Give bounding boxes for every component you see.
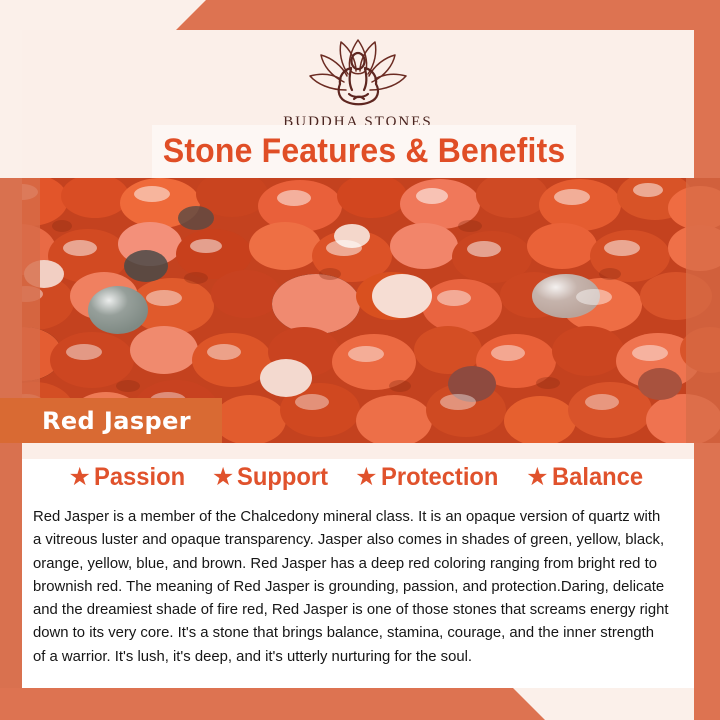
benefit-item-support: ★ Support	[212, 463, 333, 492]
star-icon: ★	[355, 465, 377, 490]
benefit-label: Passion	[94, 463, 185, 492]
benefit-item-balance: ★ Balance	[526, 463, 647, 492]
benefits-list: ★ Passion ★ Support ★ Protection ★ Balan…	[22, 463, 694, 492]
stone-name-badge: Red Jasper	[0, 398, 222, 443]
benefit-item-passion: ★ Passion	[69, 463, 190, 492]
top-accent-bar	[0, 0, 720, 30]
benefit-label: Protection	[381, 463, 498, 492]
star-icon: ★	[526, 465, 548, 490]
stone-description: Red Jasper is a member of the Chalcedony…	[33, 505, 670, 668]
benefit-label: Support	[237, 463, 328, 492]
brand-logo: BUDDHA STONES	[22, 36, 694, 131]
panel-top-tint	[22, 443, 694, 459]
page-title: Stone Features & Benefits	[163, 132, 566, 171]
star-icon: ★	[69, 465, 91, 490]
benefit-item-protection: ★ Protection	[355, 463, 504, 492]
benefit-label: Balance	[552, 463, 643, 492]
lotus-meditation-icon	[299, 36, 417, 110]
star-icon: ★	[212, 465, 234, 490]
left-accent-border	[0, 178, 22, 720]
photo-right-tint	[686, 178, 720, 443]
stone-name-text: Red Jasper	[42, 407, 191, 435]
bottom-accent-bar	[0, 688, 720, 720]
title-plate: Stone Features & Benefits	[152, 125, 576, 178]
infographic-page: BUDDHA STONES Stone Features & Benefits	[0, 0, 720, 720]
description-panel: ★ Passion ★ Support ★ Protection ★ Balan…	[22, 443, 694, 688]
